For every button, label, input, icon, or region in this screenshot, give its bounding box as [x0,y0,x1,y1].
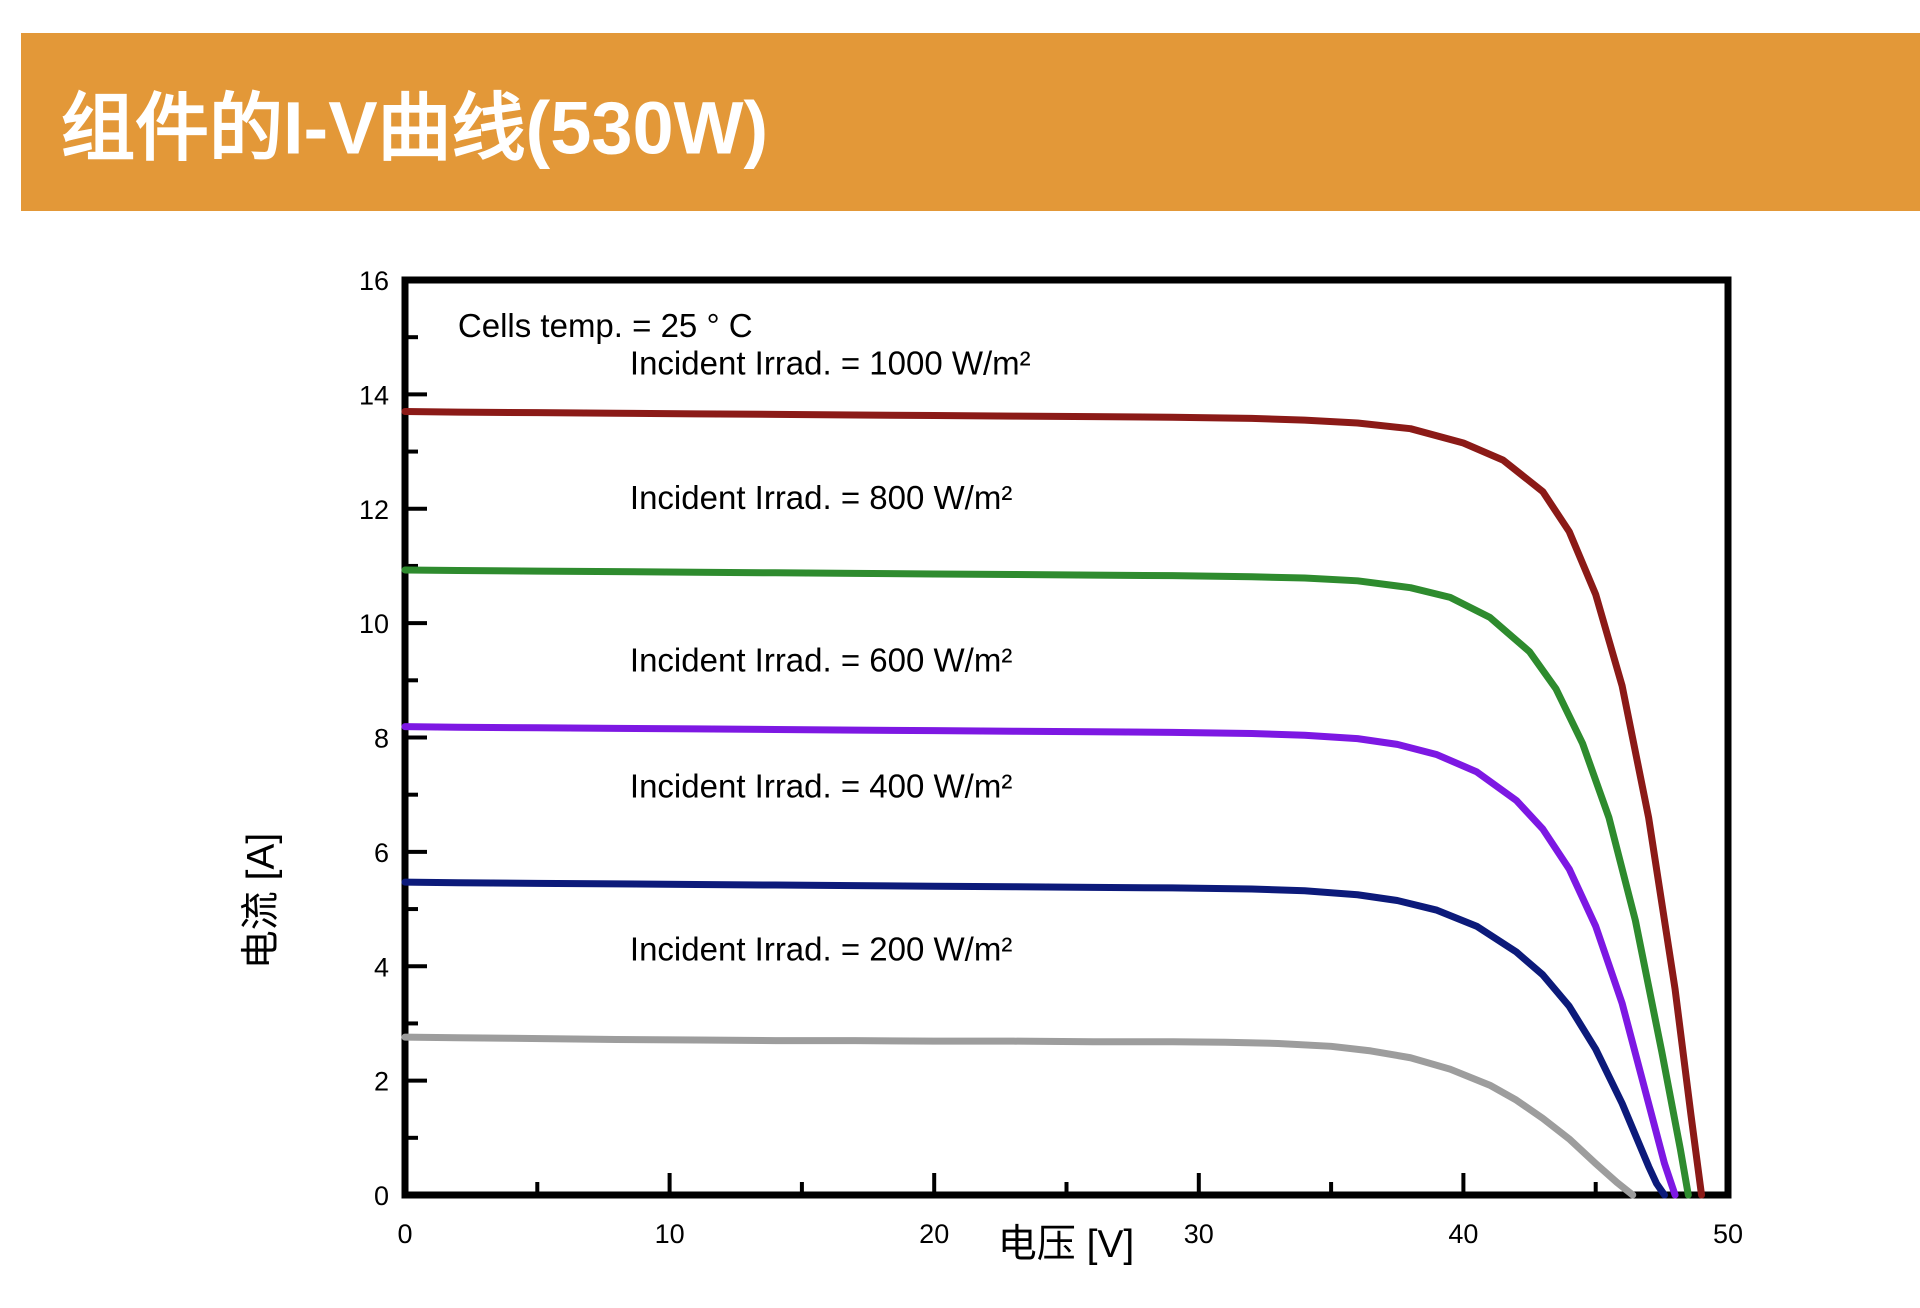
y-tick-label: 10 [359,609,389,639]
chart-annotation: Incident Irrad. = 1000 W/m² [630,344,1031,381]
iv-curve-line [405,412,1702,1195]
iv-curve-line [405,727,1675,1195]
y-axis-title: 电流 [A] [240,833,283,970]
iv-curve-line [405,1037,1633,1195]
chart-annotations: Cells temp. = 25 ° CIncident Irrad. = 10… [458,307,1031,967]
y-tick-label: 8 [374,724,389,754]
chart-annotation: Incident Irrad. = 200 W/m² [630,931,1012,968]
y-tick-label: 0 [374,1181,389,1211]
y-tick-label: 2 [374,1067,389,1097]
y-tick-label: 16 [359,266,389,296]
chart-annotation: Cells temp. = 25 ° C [458,307,753,344]
page-title: 组件的I-V曲线(530W) [61,69,768,176]
chart-annotation: Incident Irrad. = 600 W/m² [630,642,1012,679]
data-series-group [405,412,1702,1195]
x-tick-label: 30 [1184,1219,1214,1249]
x-tick-label: 0 [397,1219,412,1249]
x-axis-title: 电压 [V] [998,1223,1135,1266]
x-tick-label: 20 [919,1219,949,1249]
iv-curve-chart: 010203040500246810121416 Cells temp. = 2… [0,211,1920,1308]
chart-annotation: Incident Irrad. = 800 W/m² [630,479,1012,516]
x-tick-label: 40 [1448,1219,1478,1249]
x-tick-label: 50 [1713,1219,1743,1249]
y-tick-label: 12 [359,495,389,525]
chart-annotation: Incident Irrad. = 400 W/m² [630,768,1012,805]
chart-svg: 010203040500246810121416 Cells temp. = 2… [0,211,1920,1308]
title-banner: 组件的I-V曲线(530W) [21,33,1920,211]
y-tick-label: 14 [359,380,389,410]
y-tick-label: 6 [374,838,389,868]
y-tick-label: 4 [374,952,389,982]
x-tick-label: 10 [655,1219,685,1249]
